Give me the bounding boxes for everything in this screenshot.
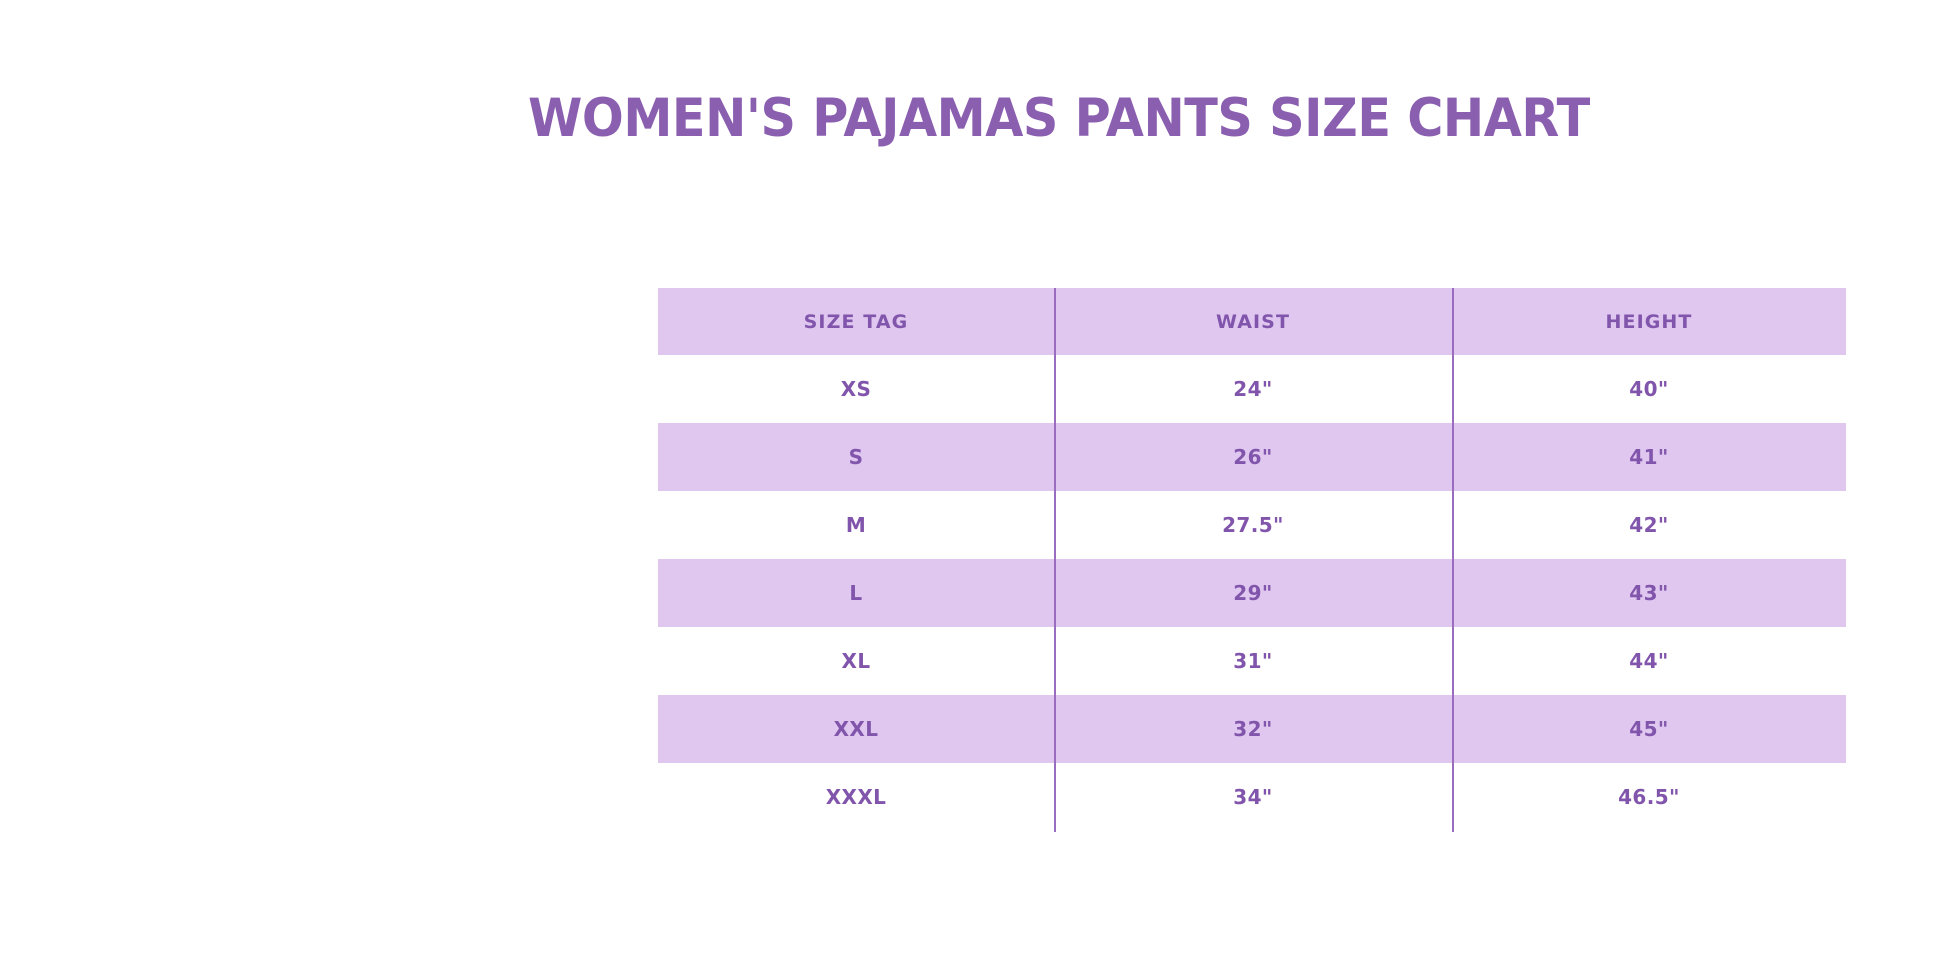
table-row: XXL 32" 45": [658, 695, 1846, 763]
cell-size-tag: XS: [658, 355, 1054, 423]
cell-waist: 32": [1054, 695, 1452, 763]
cell-height: 41": [1452, 423, 1846, 491]
table-header-row: SIZE TAG WAIST HEIGHT: [658, 288, 1846, 355]
column-header-waist: WAIST: [1054, 288, 1452, 355]
cell-height: 45": [1452, 695, 1846, 763]
table-row: S 26" 41": [658, 423, 1846, 491]
cell-size-tag: L: [658, 559, 1054, 627]
cell-waist: 34": [1054, 763, 1452, 831]
cell-size-tag: XL: [658, 627, 1054, 695]
cell-waist: 31": [1054, 627, 1452, 695]
size-chart-page: WOMEN'S PAJAMAS PANTS SIZE CHART SIZE TA…: [0, 0, 1946, 973]
table-row: XXXL 34" 46.5": [658, 763, 1846, 831]
cell-size-tag: XXXL: [658, 763, 1054, 831]
table-row: XL 31" 44": [658, 627, 1846, 695]
column-divider-line: [1054, 288, 1056, 832]
column-divider-line: [1452, 288, 1454, 832]
cell-waist: 24": [1054, 355, 1452, 423]
size-chart-table: SIZE TAG WAIST HEIGHT XS 24" 40" S 26" 4…: [658, 288, 1846, 831]
table-header: SIZE TAG WAIST HEIGHT: [658, 288, 1846, 355]
cell-waist: 26": [1054, 423, 1452, 491]
cell-height: 46.5": [1452, 763, 1846, 831]
table-row: XS 24" 40": [658, 355, 1846, 423]
cell-height: 40": [1452, 355, 1846, 423]
column-header-height: HEIGHT: [1452, 288, 1846, 355]
cell-size-tag: M: [658, 491, 1054, 559]
column-header-size-tag: SIZE TAG: [658, 288, 1054, 355]
cell-waist: 29": [1054, 559, 1452, 627]
cell-size-tag: S: [658, 423, 1054, 491]
table-row: M 27.5" 42": [658, 491, 1846, 559]
cell-size-tag: XXL: [658, 695, 1054, 763]
table-row: L 29" 43": [658, 559, 1846, 627]
page-title: WOMEN'S PAJAMAS PANTS SIZE CHART: [528, 80, 1821, 158]
cell-height: 44": [1452, 627, 1846, 695]
cell-waist: 27.5": [1054, 491, 1452, 559]
cell-height: 42": [1452, 491, 1846, 559]
cell-height: 43": [1452, 559, 1846, 627]
table-body: XS 24" 40" S 26" 41" M 27.5" 42" L 29" 4…: [658, 355, 1846, 831]
